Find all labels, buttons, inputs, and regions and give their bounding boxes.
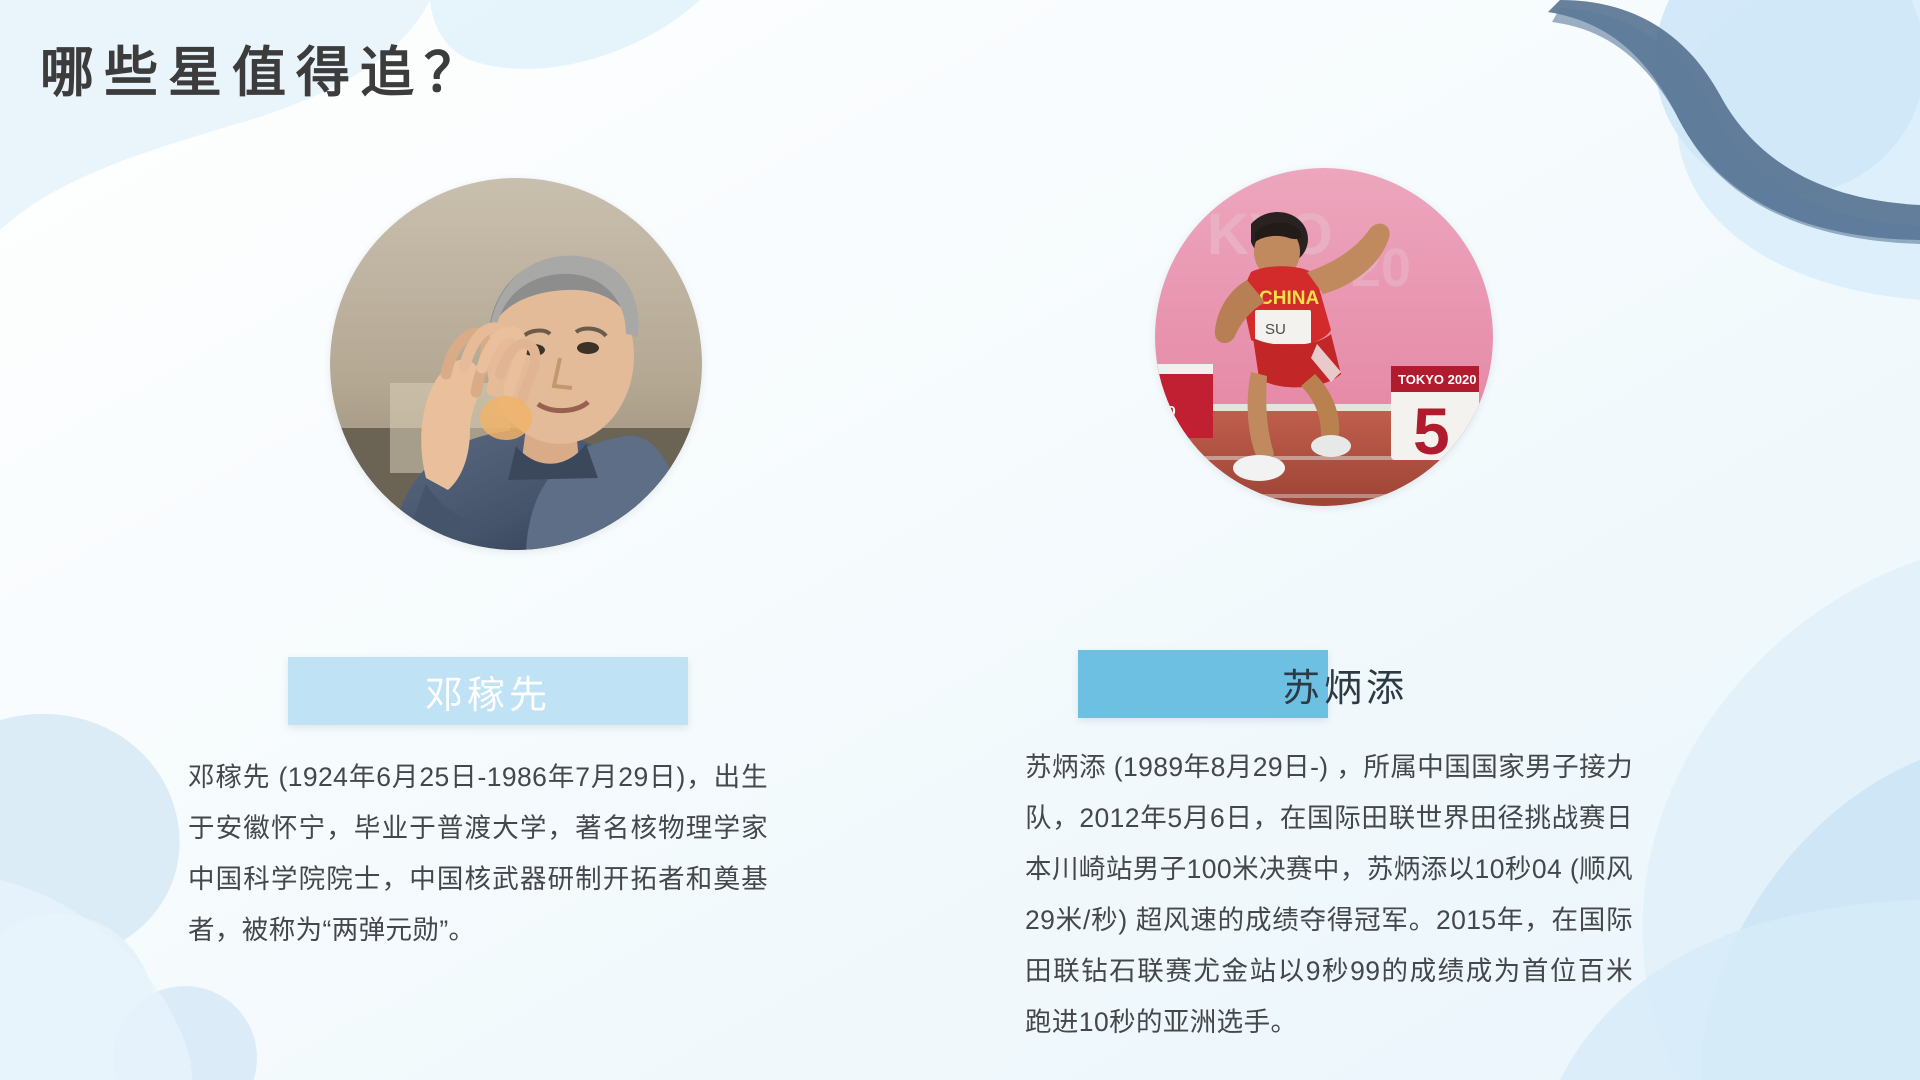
page-title: 哪些星值得追？ — [40, 28, 488, 107]
svg-text:20: 20 — [1159, 403, 1176, 420]
top-right-line-1 — [1548, 0, 1920, 240]
svg-text:SU: SU — [1265, 321, 1286, 338]
top-right-line-2 — [1552, 8, 1920, 244]
bottom-left-wave — [0, 880, 192, 1080]
name-label-deng-jiaxian: 邓稼先 — [425, 664, 551, 719]
portrait-deng-jiaxian-image — [330, 178, 702, 550]
portrait-su-bingtian: KYO 20 20 TOKYO 2020 5 — [1155, 168, 1493, 506]
name-bar-su-bingtian: 苏炳添 — [1078, 650, 1328, 718]
bottom-left-circle-2 — [113, 986, 257, 1080]
bottom-left-blob — [0, 714, 180, 964]
bio-su-bingtian: 苏炳添 (1989年8月29日-) ，所属中国国家男子接力队，2012年5月6日… — [1025, 742, 1633, 1048]
portrait-deng-jiaxian — [330, 178, 702, 550]
bottom-left-circle-1 — [0, 914, 154, 1080]
name-bar-deng-jiaxian: 邓稼先 — [288, 657, 688, 725]
top-right-circle — [1655, 0, 1920, 195]
svg-text:CHINA: CHINA — [1259, 288, 1319, 309]
name-label-su-bingtian: 苏炳添 — [1282, 657, 1408, 712]
slide-root: 哪些星值得追？ — [0, 0, 1920, 1080]
svg-text:5: 5 — [1413, 394, 1450, 468]
bio-deng-jiaxian: 邓稼先 (1924年6月25日-1986年7月29日)，出生于安徽怀宁，毕业于普… — [188, 752, 768, 956]
portrait-su-bingtian-image: KYO 20 20 TOKYO 2020 5 — [1155, 168, 1493, 506]
top-right-blob — [1677, 0, 1920, 300]
bottom-right-wash-1 — [1643, 560, 1920, 1080]
svg-text:TOKYO 2020: TOKYO 2020 — [1398, 372, 1477, 387]
bottom-right-wash-2 — [1701, 760, 1920, 1080]
